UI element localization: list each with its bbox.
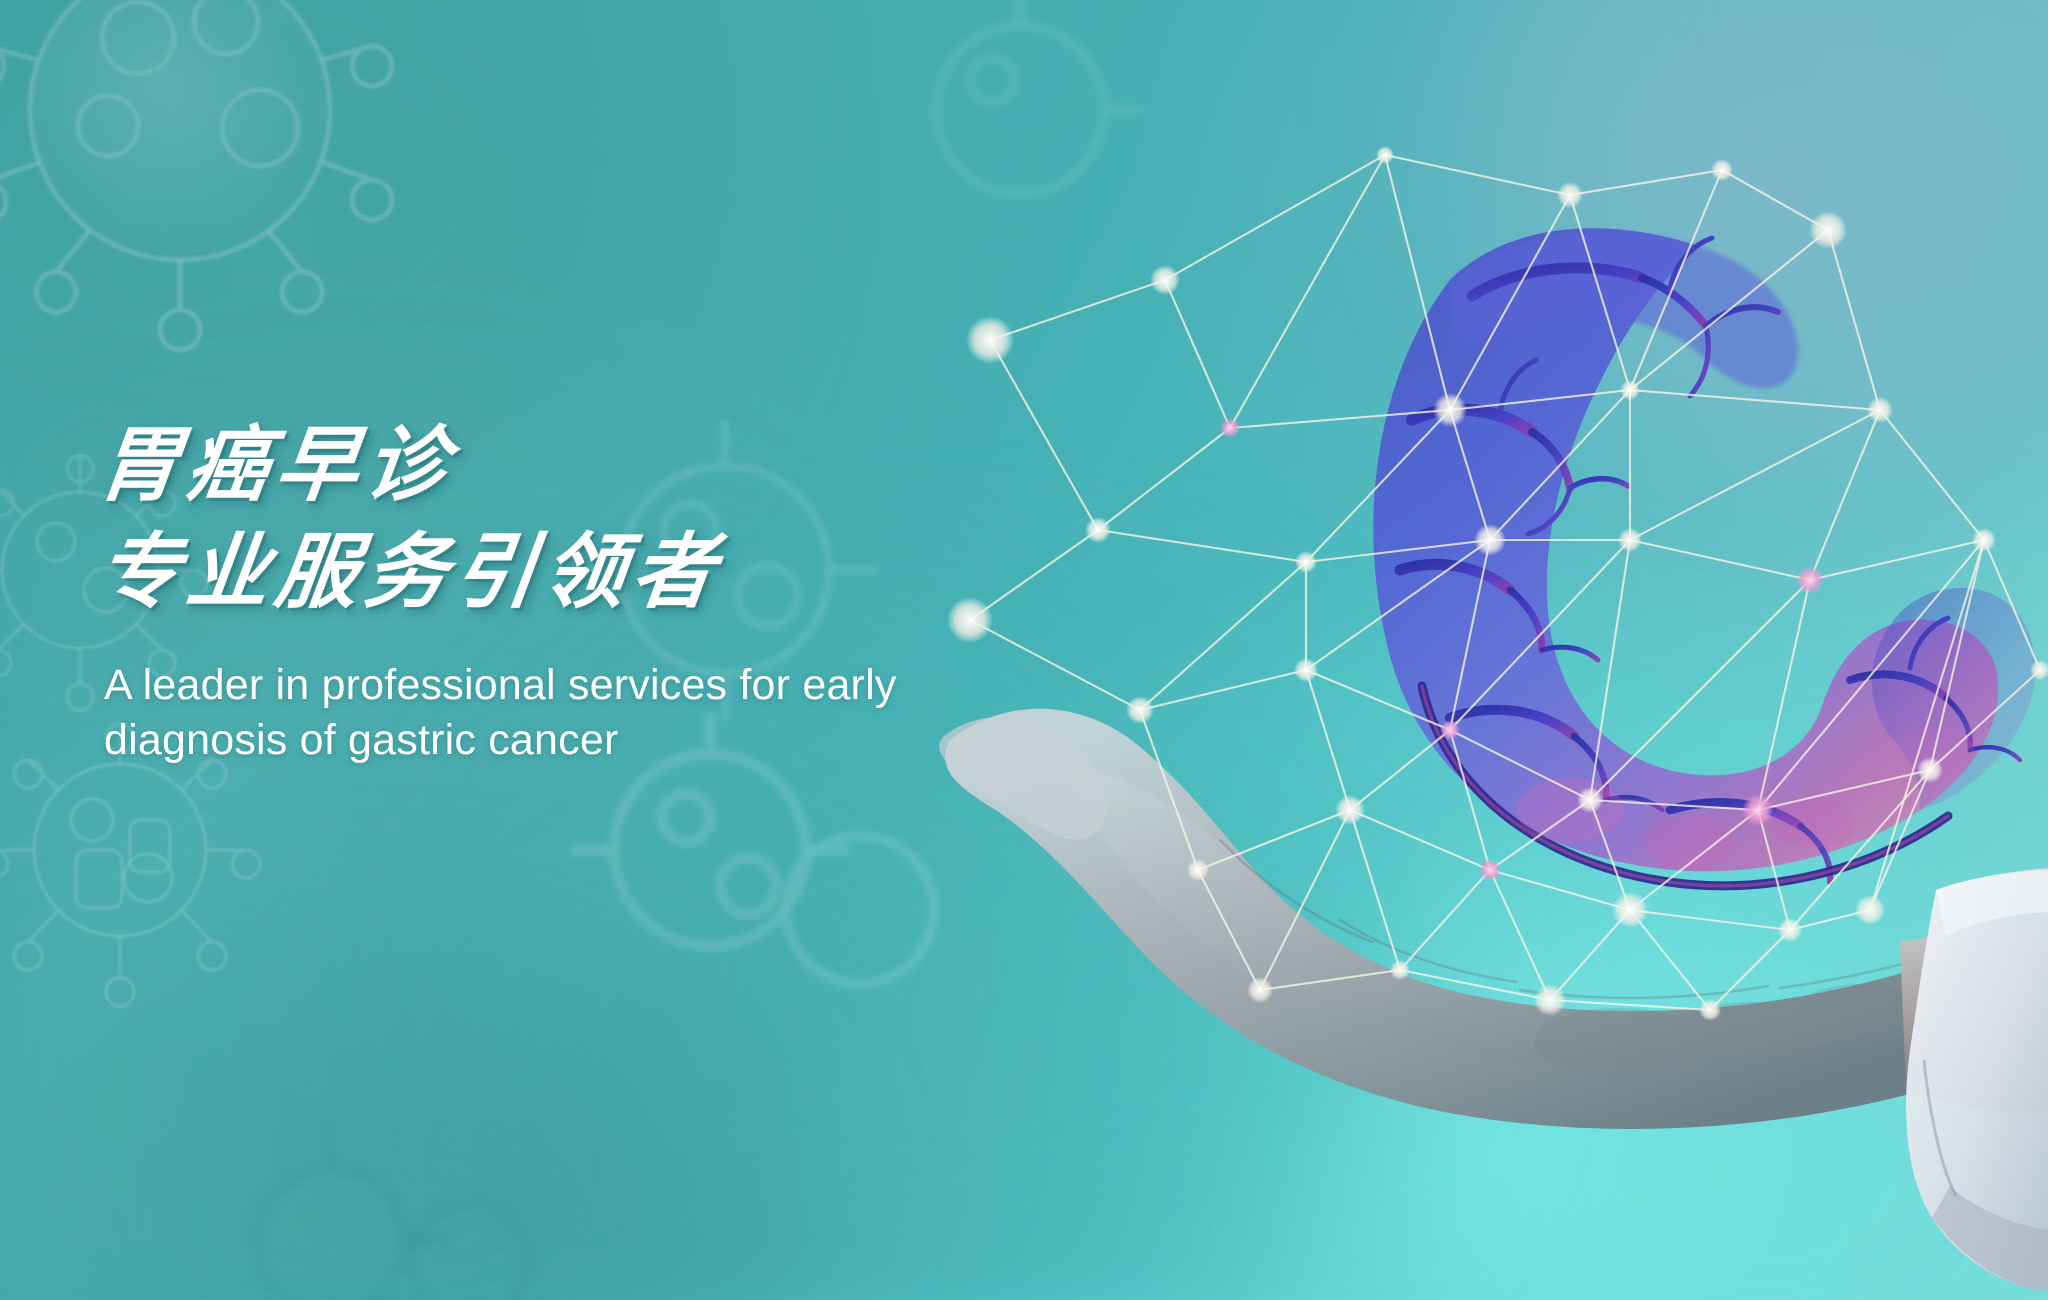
background-wash-bottom-left — [0, 980, 760, 1300]
illustration-group — [1150, 120, 2048, 1300]
subheadline-line1: A leader in professional services for ea… — [104, 658, 1124, 714]
subheadline-english: A leader in professional services for ea… — [104, 658, 1124, 770]
coronavirus-icon — [0, 0, 450, 390]
hero-text-block: 胃癌早诊 专业服务引领者 A leader in professional se… — [104, 418, 1164, 769]
headline-chinese-line2: 专业服务引领者 — [92, 525, 1164, 622]
hero-banner: 胃癌早诊 专业服务引领者 A leader in professional se… — [0, 0, 2048, 1300]
virus-blur-decoration — [180, 1080, 610, 1300]
headline-chinese-line1: 胃癌早诊 — [92, 418, 1164, 515]
subheadline-line2: diagnosis of gastric cancer — [104, 713, 1124, 769]
